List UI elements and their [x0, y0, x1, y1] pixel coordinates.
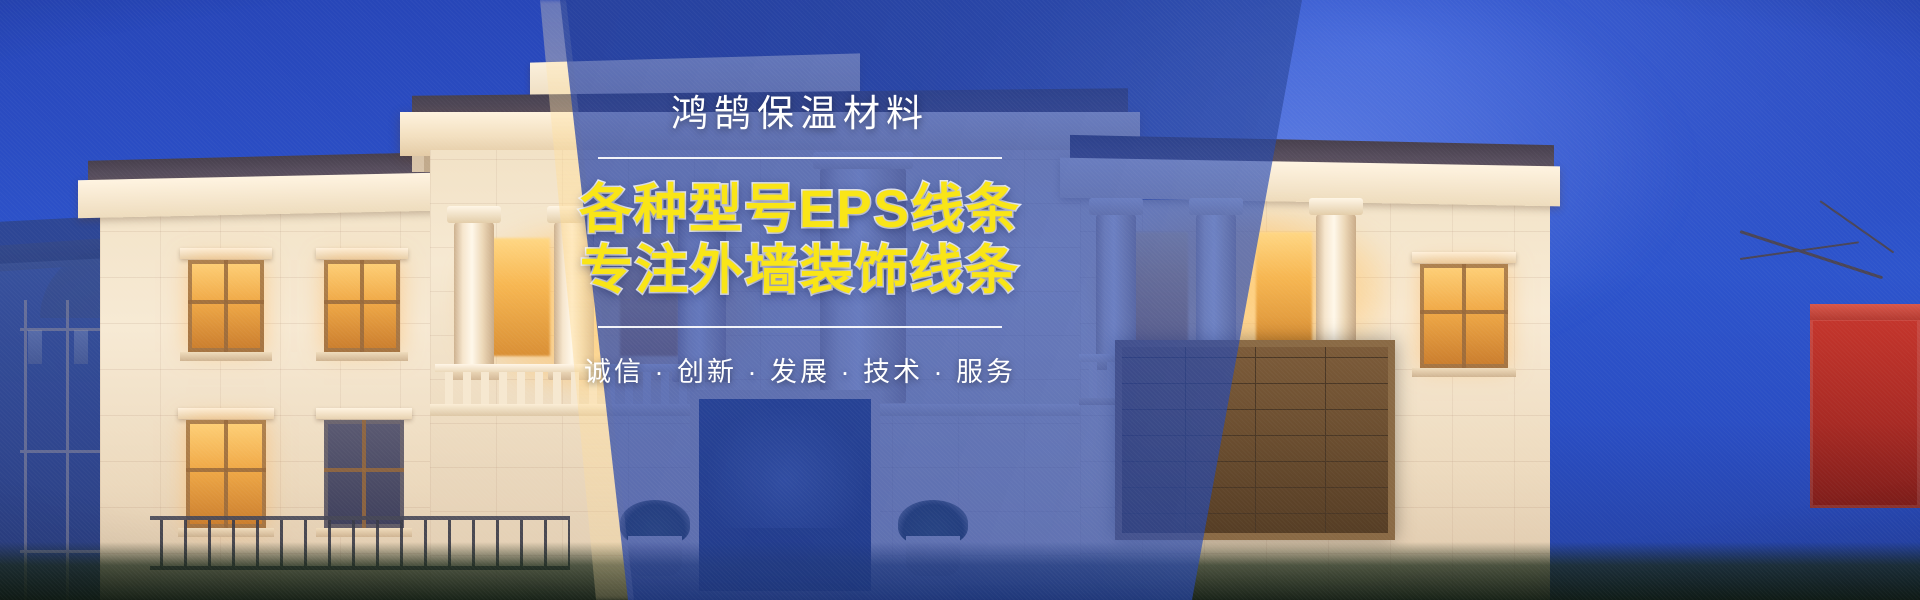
window-glowing	[188, 260, 264, 352]
red-structure	[1810, 318, 1920, 508]
headline: 各种型号EPS线条 专注外墙装饰线条	[565, 179, 1035, 302]
banner-copy: 鸿鹄保温材料 各种型号EPS线条 专注外墙装饰线条 诚信 · 创新 · 发展 ·…	[565, 95, 1035, 389]
right-wing-recess	[1256, 232, 1312, 344]
window-glowing	[1420, 264, 1508, 368]
headline-line-2: 专注外墙装饰线条	[565, 240, 1035, 301]
window-glowing	[186, 420, 266, 528]
window-hood	[180, 248, 272, 259]
window-sill	[180, 352, 272, 361]
window-sill	[316, 352, 408, 361]
window-hood	[316, 248, 408, 259]
tagline: 诚信 · 创新 · 发展 · 技术 · 服务	[565, 350, 1035, 389]
window-dark	[324, 420, 404, 528]
divider-bottom	[598, 326, 1002, 328]
promo-banner: 鸿鹄保温材料 各种型号EPS线条 专注外墙装饰线条 诚信 · 创新 · 发展 ·…	[0, 0, 1920, 600]
brand-name: 鸿鹄保温材料	[565, 95, 1035, 132]
window-hood	[316, 408, 412, 419]
window-sill	[1412, 368, 1516, 377]
window-glowing	[324, 260, 400, 352]
column	[454, 222, 494, 370]
column	[1316, 214, 1356, 360]
divider-top	[598, 157, 1002, 159]
window-hood	[178, 408, 274, 419]
window-hood	[1412, 252, 1516, 263]
headline-line-1: 各种型号EPS线条	[565, 179, 1035, 240]
portico-recess	[492, 238, 550, 356]
